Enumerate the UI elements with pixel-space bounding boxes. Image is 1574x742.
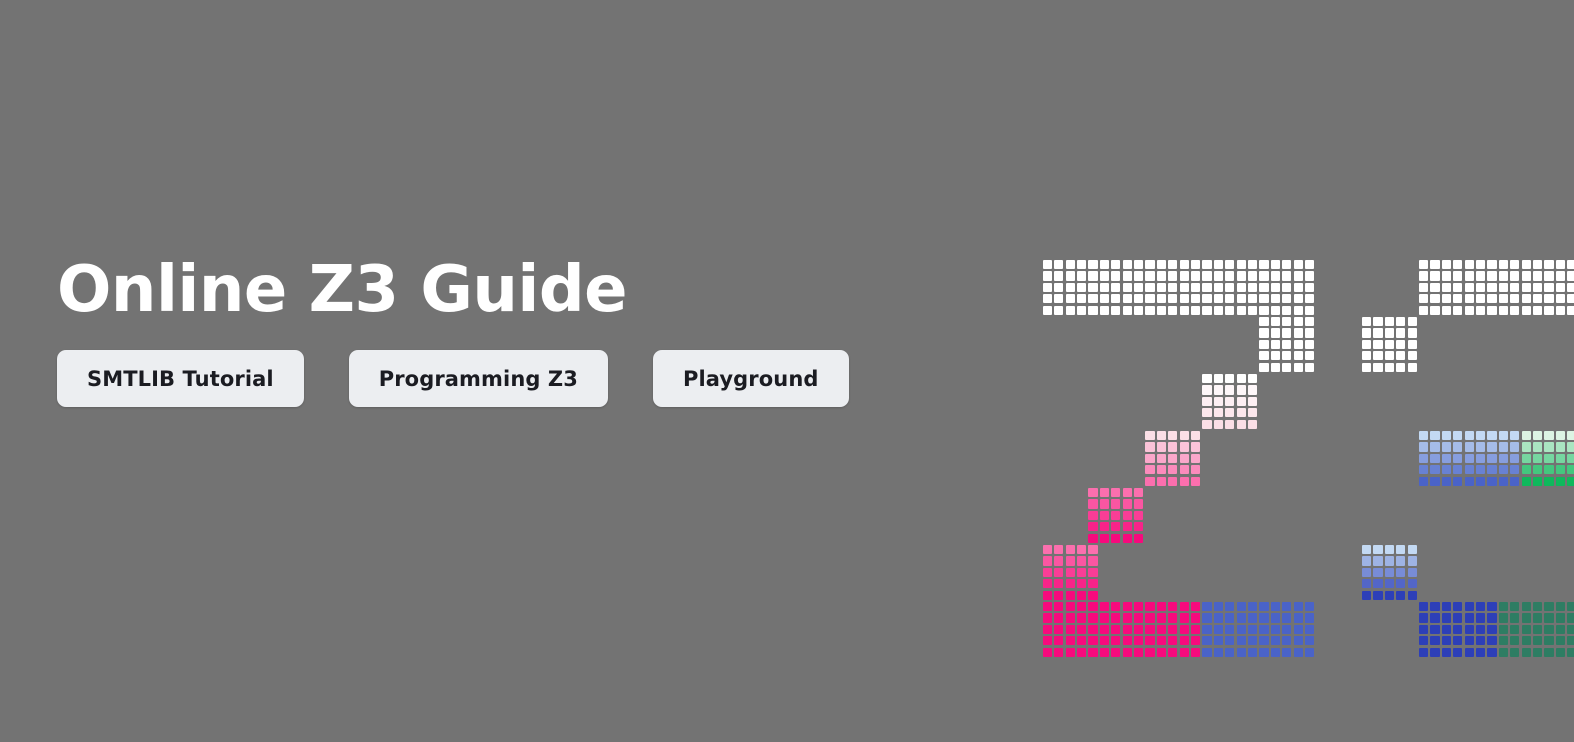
logo-pixel	[1066, 556, 1075, 565]
logo-pixel	[1419, 306, 1428, 315]
logo-pixel	[1043, 556, 1052, 565]
hero-section: Online Z3 Guide SMTLIB Tutorial Programm…	[0, 0, 1574, 742]
logo-pixel	[1567, 454, 1574, 463]
logo-pixel	[1168, 602, 1177, 611]
logo-pixel	[1088, 579, 1097, 588]
logo-pixel	[1145, 625, 1154, 634]
logo-pixel	[1499, 477, 1508, 486]
logo-pixel	[1054, 271, 1063, 280]
logo-pixel	[1259, 294, 1268, 303]
logo-pixel	[1499, 294, 1508, 303]
logo-pixel	[1088, 636, 1097, 645]
logo-pixel	[1408, 317, 1417, 326]
logo-pixel	[1191, 602, 1200, 611]
logo-pixel	[1123, 511, 1132, 520]
logo-pixel	[1066, 602, 1075, 611]
logo-pixel	[1408, 340, 1417, 349]
logo-pixel	[1168, 454, 1177, 463]
logo-pixel	[1077, 271, 1086, 280]
logo-pixel	[1544, 294, 1553, 303]
logo-pixel	[1100, 511, 1109, 520]
logo-pixel	[1191, 260, 1200, 269]
logo-pixel	[1522, 602, 1531, 611]
logo-pixel	[1157, 431, 1166, 440]
logo-pixel	[1259, 602, 1268, 611]
logo-pixel	[1362, 545, 1371, 554]
logo-pixel	[1442, 465, 1451, 474]
logo-pixel	[1396, 328, 1405, 337]
logo-pixel	[1043, 294, 1052, 303]
logo-pixel	[1453, 431, 1462, 440]
logo-pixel	[1533, 294, 1542, 303]
logo-pixel	[1362, 591, 1371, 600]
logo-pixel	[1157, 454, 1166, 463]
logo-pixel	[1237, 420, 1246, 429]
logo-pixel	[1453, 454, 1462, 463]
logo-pixel	[1214, 260, 1223, 269]
logo-pixel	[1282, 317, 1291, 326]
logo-pixel	[1408, 328, 1417, 337]
logo-pixel	[1305, 260, 1314, 269]
logo-pixel	[1442, 431, 1451, 440]
logo-pixel	[1054, 568, 1063, 577]
logo-pixel	[1430, 294, 1439, 303]
logo-pixel	[1419, 271, 1428, 280]
logo-pixel	[1442, 602, 1451, 611]
logo-pixel	[1180, 636, 1189, 645]
logo-pixel	[1430, 431, 1439, 440]
logo-pixel	[1168, 636, 1177, 645]
logo-pixel	[1510, 648, 1519, 657]
logo-pixel	[1134, 625, 1143, 634]
logo-pixel	[1111, 613, 1120, 622]
logo-pixel	[1533, 271, 1542, 280]
logo-pixel	[1248, 294, 1257, 303]
page-title: Online Z3 Guide	[57, 258, 977, 322]
logo-pixel	[1123, 306, 1132, 315]
logo-pixel	[1123, 625, 1132, 634]
logo-pixel	[1214, 271, 1223, 280]
logo-pixel	[1100, 625, 1109, 634]
logo-pixel	[1567, 477, 1574, 486]
logo-pixel	[1111, 294, 1120, 303]
logo-pixel	[1567, 648, 1574, 657]
logo-pixel	[1145, 477, 1154, 486]
logo-pixel	[1476, 477, 1485, 486]
logo-pixel	[1157, 442, 1166, 451]
logo-pixel	[1088, 648, 1097, 657]
logo-pixel	[1510, 625, 1519, 634]
logo-pixel	[1544, 283, 1553, 292]
logo-pixel	[1054, 613, 1063, 622]
logo-pixel	[1237, 294, 1246, 303]
logo-pixel	[1225, 408, 1234, 417]
logo-pixel	[1487, 271, 1496, 280]
logo-pixel	[1191, 477, 1200, 486]
logo-pixel	[1305, 636, 1314, 645]
logo-pixel	[1225, 397, 1234, 406]
logo-pixel	[1214, 648, 1223, 657]
logo-pixel	[1465, 477, 1474, 486]
logo-pixel	[1111, 260, 1120, 269]
logo-pixel	[1567, 625, 1574, 634]
logo-pixel	[1168, 648, 1177, 657]
logo-pixel	[1510, 602, 1519, 611]
logo-pixel	[1088, 488, 1097, 497]
logo-pixel	[1202, 294, 1211, 303]
logo-pixel	[1180, 602, 1189, 611]
logo-pixel	[1294, 271, 1303, 280]
logo-pixel	[1259, 271, 1268, 280]
logo-pixel	[1191, 442, 1200, 451]
logo-pixel	[1544, 465, 1553, 474]
logo-pixel	[1510, 283, 1519, 292]
logo-pixel	[1168, 465, 1177, 474]
logo-pixel	[1145, 306, 1154, 315]
logo-pixel	[1168, 260, 1177, 269]
logo-pixel	[1077, 591, 1086, 600]
logo-pixel	[1476, 625, 1485, 634]
logo-pixel	[1134, 534, 1143, 543]
logo-pixel	[1396, 591, 1405, 600]
logo-pixel	[1465, 283, 1474, 292]
logo-pixel	[1134, 522, 1143, 531]
logo-pixel	[1487, 648, 1496, 657]
logo-pixel	[1385, 351, 1394, 360]
logo-pixel	[1145, 613, 1154, 622]
logo-pixel	[1499, 271, 1508, 280]
logo-pixel	[1123, 613, 1132, 622]
logo-pixel	[1259, 613, 1268, 622]
logo-pixel	[1111, 306, 1120, 315]
logo-pixel	[1522, 283, 1531, 292]
logo-pixel	[1442, 283, 1451, 292]
logo-pixel	[1487, 602, 1496, 611]
logo-pixel	[1077, 568, 1086, 577]
logo-pixel	[1066, 283, 1075, 292]
logo-pixel	[1077, 294, 1086, 303]
logo-pixel	[1533, 283, 1542, 292]
logo-pixel	[1442, 454, 1451, 463]
logo-pixel	[1385, 568, 1394, 577]
logo-pixel	[1157, 648, 1166, 657]
logo-pixel	[1430, 636, 1439, 645]
logo-pixel	[1271, 636, 1280, 645]
logo-pixel	[1248, 283, 1257, 292]
logo-pixel	[1100, 306, 1109, 315]
logo-pixel	[1510, 442, 1519, 451]
logo-pixel	[1465, 625, 1474, 634]
logo-pixel	[1259, 351, 1268, 360]
logo-pixel	[1077, 579, 1086, 588]
logo-pixel	[1476, 294, 1485, 303]
logo-pixel	[1487, 431, 1496, 440]
logo-pixel	[1088, 522, 1097, 531]
logo-pixel	[1100, 636, 1109, 645]
logo-pixel	[1510, 294, 1519, 303]
logo-pixel	[1214, 397, 1223, 406]
logo-pixel	[1294, 340, 1303, 349]
logo-pixel	[1476, 442, 1485, 451]
logo-pixel	[1476, 465, 1485, 474]
logo-pixel	[1202, 385, 1211, 394]
logo-pixel	[1556, 283, 1565, 292]
logo-pixel	[1544, 306, 1553, 315]
logo-pixel	[1294, 317, 1303, 326]
logo-pixel	[1465, 260, 1474, 269]
logo-pixel	[1157, 283, 1166, 292]
logo-pixel	[1157, 260, 1166, 269]
logo-pixel	[1214, 613, 1223, 622]
logo-pixel	[1544, 613, 1553, 622]
logo-pixel	[1180, 477, 1189, 486]
logo-pixel	[1248, 271, 1257, 280]
logo-pixel	[1476, 613, 1485, 622]
logo-pixel	[1465, 602, 1474, 611]
logo-pixel	[1430, 271, 1439, 280]
logo-pixel	[1556, 602, 1565, 611]
logo-pixel	[1282, 294, 1291, 303]
logo-pixel	[1043, 625, 1052, 634]
logo-pixel	[1453, 602, 1462, 611]
logo-pixel	[1259, 648, 1268, 657]
logo-pixel	[1248, 613, 1257, 622]
logo-pixel	[1567, 306, 1574, 315]
logo-pixel	[1123, 636, 1132, 645]
logo-pixel	[1396, 317, 1405, 326]
logo-pixel	[1373, 351, 1382, 360]
logo-pixel	[1202, 636, 1211, 645]
logo-pixel	[1043, 591, 1052, 600]
logo-pixel	[1180, 465, 1189, 474]
logo-pixel	[1567, 613, 1574, 622]
logo-pixel	[1157, 613, 1166, 622]
logo-pixel	[1271, 271, 1280, 280]
logo-pixel	[1157, 602, 1166, 611]
logo-pixel	[1248, 385, 1257, 394]
logo-pixel	[1556, 431, 1565, 440]
logo-pixel	[1043, 613, 1052, 622]
logo-pixel	[1419, 465, 1428, 474]
logo-pixel	[1305, 283, 1314, 292]
logo-pixel	[1305, 351, 1314, 360]
logo-pixel	[1225, 602, 1234, 611]
logo-pixel	[1294, 625, 1303, 634]
logo-pixel	[1191, 465, 1200, 474]
logo-pixel	[1271, 340, 1280, 349]
logo-pixel	[1100, 271, 1109, 280]
logo-pixel	[1533, 442, 1542, 451]
logo-pixel	[1430, 442, 1439, 451]
logo-pixel	[1259, 363, 1268, 372]
logo-pixel	[1066, 648, 1075, 657]
logo-pixel	[1510, 431, 1519, 440]
logo-pixel	[1271, 260, 1280, 269]
logo-pixel	[1282, 328, 1291, 337]
logo-pixel	[1476, 648, 1485, 657]
logo-pixel	[1430, 477, 1439, 486]
playground-button[interactable]: Playground	[653, 350, 849, 407]
logo-pixel	[1533, 602, 1542, 611]
logo-pixel	[1533, 613, 1542, 622]
logo-pixel	[1145, 442, 1154, 451]
logo-pixel	[1385, 363, 1394, 372]
logo-pixel	[1271, 317, 1280, 326]
logo-pixel	[1522, 636, 1531, 645]
logo-pixel	[1499, 306, 1508, 315]
logo-pixel	[1533, 260, 1542, 269]
logo-pixel	[1544, 431, 1553, 440]
logo-pixel	[1088, 591, 1097, 600]
logo-pixel	[1373, 579, 1382, 588]
logo-pixel	[1442, 306, 1451, 315]
logo-pixel	[1100, 488, 1109, 497]
logo-pixel	[1066, 579, 1075, 588]
logo-pixel	[1533, 648, 1542, 657]
logo-pixel	[1168, 306, 1177, 315]
logo-pixel	[1408, 568, 1417, 577]
logo-pixel	[1408, 579, 1417, 588]
logo-pixel	[1453, 648, 1462, 657]
logo-pixel	[1248, 306, 1257, 315]
logo-pixel	[1191, 454, 1200, 463]
logo-pixel	[1214, 636, 1223, 645]
logo-pixel	[1134, 511, 1143, 520]
logo-pixel	[1476, 602, 1485, 611]
programming-z3-button[interactable]: Programming Z3	[349, 350, 608, 407]
logo-pixel	[1556, 294, 1565, 303]
logo-pixel	[1259, 340, 1268, 349]
logo-pixel	[1054, 283, 1063, 292]
logo-pixel	[1145, 431, 1154, 440]
logo-pixel	[1442, 636, 1451, 645]
logo-pixel	[1282, 625, 1291, 634]
logo-pixel	[1145, 648, 1154, 657]
logo-pixel	[1567, 636, 1574, 645]
logo-pixel	[1054, 636, 1063, 645]
logo-pixel	[1111, 283, 1120, 292]
logo-pixel	[1476, 306, 1485, 315]
logo-pixel	[1476, 260, 1485, 269]
logo-pixel	[1145, 602, 1154, 611]
logo-pixel	[1259, 328, 1268, 337]
logo-pixel	[1237, 408, 1246, 417]
logo-pixel	[1134, 602, 1143, 611]
logo-pixel	[1054, 260, 1063, 269]
logo-pixel	[1465, 431, 1474, 440]
logo-pixel	[1271, 648, 1280, 657]
logo-pixel	[1476, 636, 1485, 645]
logo-pixel	[1111, 499, 1120, 508]
logo-pixel	[1282, 271, 1291, 280]
logo-pixel	[1191, 636, 1200, 645]
logo-pixel	[1237, 636, 1246, 645]
logo-pixel	[1567, 260, 1574, 269]
logo-pixel	[1248, 374, 1257, 383]
logo-pixel	[1385, 556, 1394, 565]
logo-pixel	[1487, 306, 1496, 315]
logo-pixel	[1248, 625, 1257, 634]
logo-pixel	[1556, 442, 1565, 451]
logo-pixel	[1522, 454, 1531, 463]
logo-pixel	[1248, 260, 1257, 269]
logo-pixel	[1248, 397, 1257, 406]
logo-pixel	[1054, 648, 1063, 657]
logo-pixel	[1430, 454, 1439, 463]
logo-pixel	[1453, 613, 1462, 622]
logo-pixel	[1088, 294, 1097, 303]
logo-pixel	[1237, 306, 1246, 315]
logo-pixel	[1225, 374, 1234, 383]
logo-pixel	[1043, 602, 1052, 611]
logo-pixel	[1533, 636, 1542, 645]
logo-pixel	[1305, 602, 1314, 611]
logo-pixel	[1145, 636, 1154, 645]
logo-pixel	[1408, 591, 1417, 600]
logo-pixel	[1499, 636, 1508, 645]
logo-pixel	[1294, 294, 1303, 303]
logo-pixel	[1487, 625, 1496, 634]
logo-pixel	[1100, 648, 1109, 657]
logo-pixel	[1191, 648, 1200, 657]
logo-pixel	[1134, 271, 1143, 280]
logo-pixel	[1419, 648, 1428, 657]
logo-pixel	[1043, 306, 1052, 315]
smtlib-tutorial-button[interactable]: SMTLIB Tutorial	[57, 350, 304, 407]
logo-pixel	[1419, 636, 1428, 645]
logo-pixel	[1373, 568, 1382, 577]
logo-pixel	[1088, 534, 1097, 543]
logo-pixel	[1248, 602, 1257, 611]
logo-pixel	[1305, 340, 1314, 349]
logo-pixel	[1088, 625, 1097, 634]
logo-pixel	[1168, 613, 1177, 622]
logo-pixel	[1225, 420, 1234, 429]
logo-pixel	[1385, 340, 1394, 349]
logo-pixel	[1385, 545, 1394, 554]
logo-pixel	[1419, 477, 1428, 486]
logo-pixel	[1544, 271, 1553, 280]
logo-pixel	[1077, 545, 1086, 554]
logo-pixel	[1385, 591, 1394, 600]
logo-pixel	[1088, 556, 1097, 565]
logo-pixel	[1145, 454, 1154, 463]
logo-pixel	[1510, 465, 1519, 474]
logo-pixel	[1567, 283, 1574, 292]
logo-pixel	[1362, 317, 1371, 326]
logo-pixel	[1123, 522, 1132, 531]
logo-pixel	[1465, 294, 1474, 303]
logo-pixel	[1305, 613, 1314, 622]
logo-pixel	[1168, 431, 1177, 440]
logo-pixel	[1077, 625, 1086, 634]
logo-pixel	[1180, 294, 1189, 303]
logo-pixel	[1522, 306, 1531, 315]
logo-pixel	[1225, 613, 1234, 622]
logo-pixel	[1544, 260, 1553, 269]
logo-pixel	[1385, 579, 1394, 588]
logo-pixel	[1111, 271, 1120, 280]
logo-pixel	[1259, 625, 1268, 634]
logo-pixel	[1180, 306, 1189, 315]
logo-pixel	[1385, 317, 1394, 326]
logo-pixel	[1544, 625, 1553, 634]
logo-pixel	[1225, 648, 1234, 657]
logo-pixel	[1054, 556, 1063, 565]
logo-pixel	[1556, 613, 1565, 622]
logo-pixel	[1088, 283, 1097, 292]
logo-pixel	[1043, 568, 1052, 577]
